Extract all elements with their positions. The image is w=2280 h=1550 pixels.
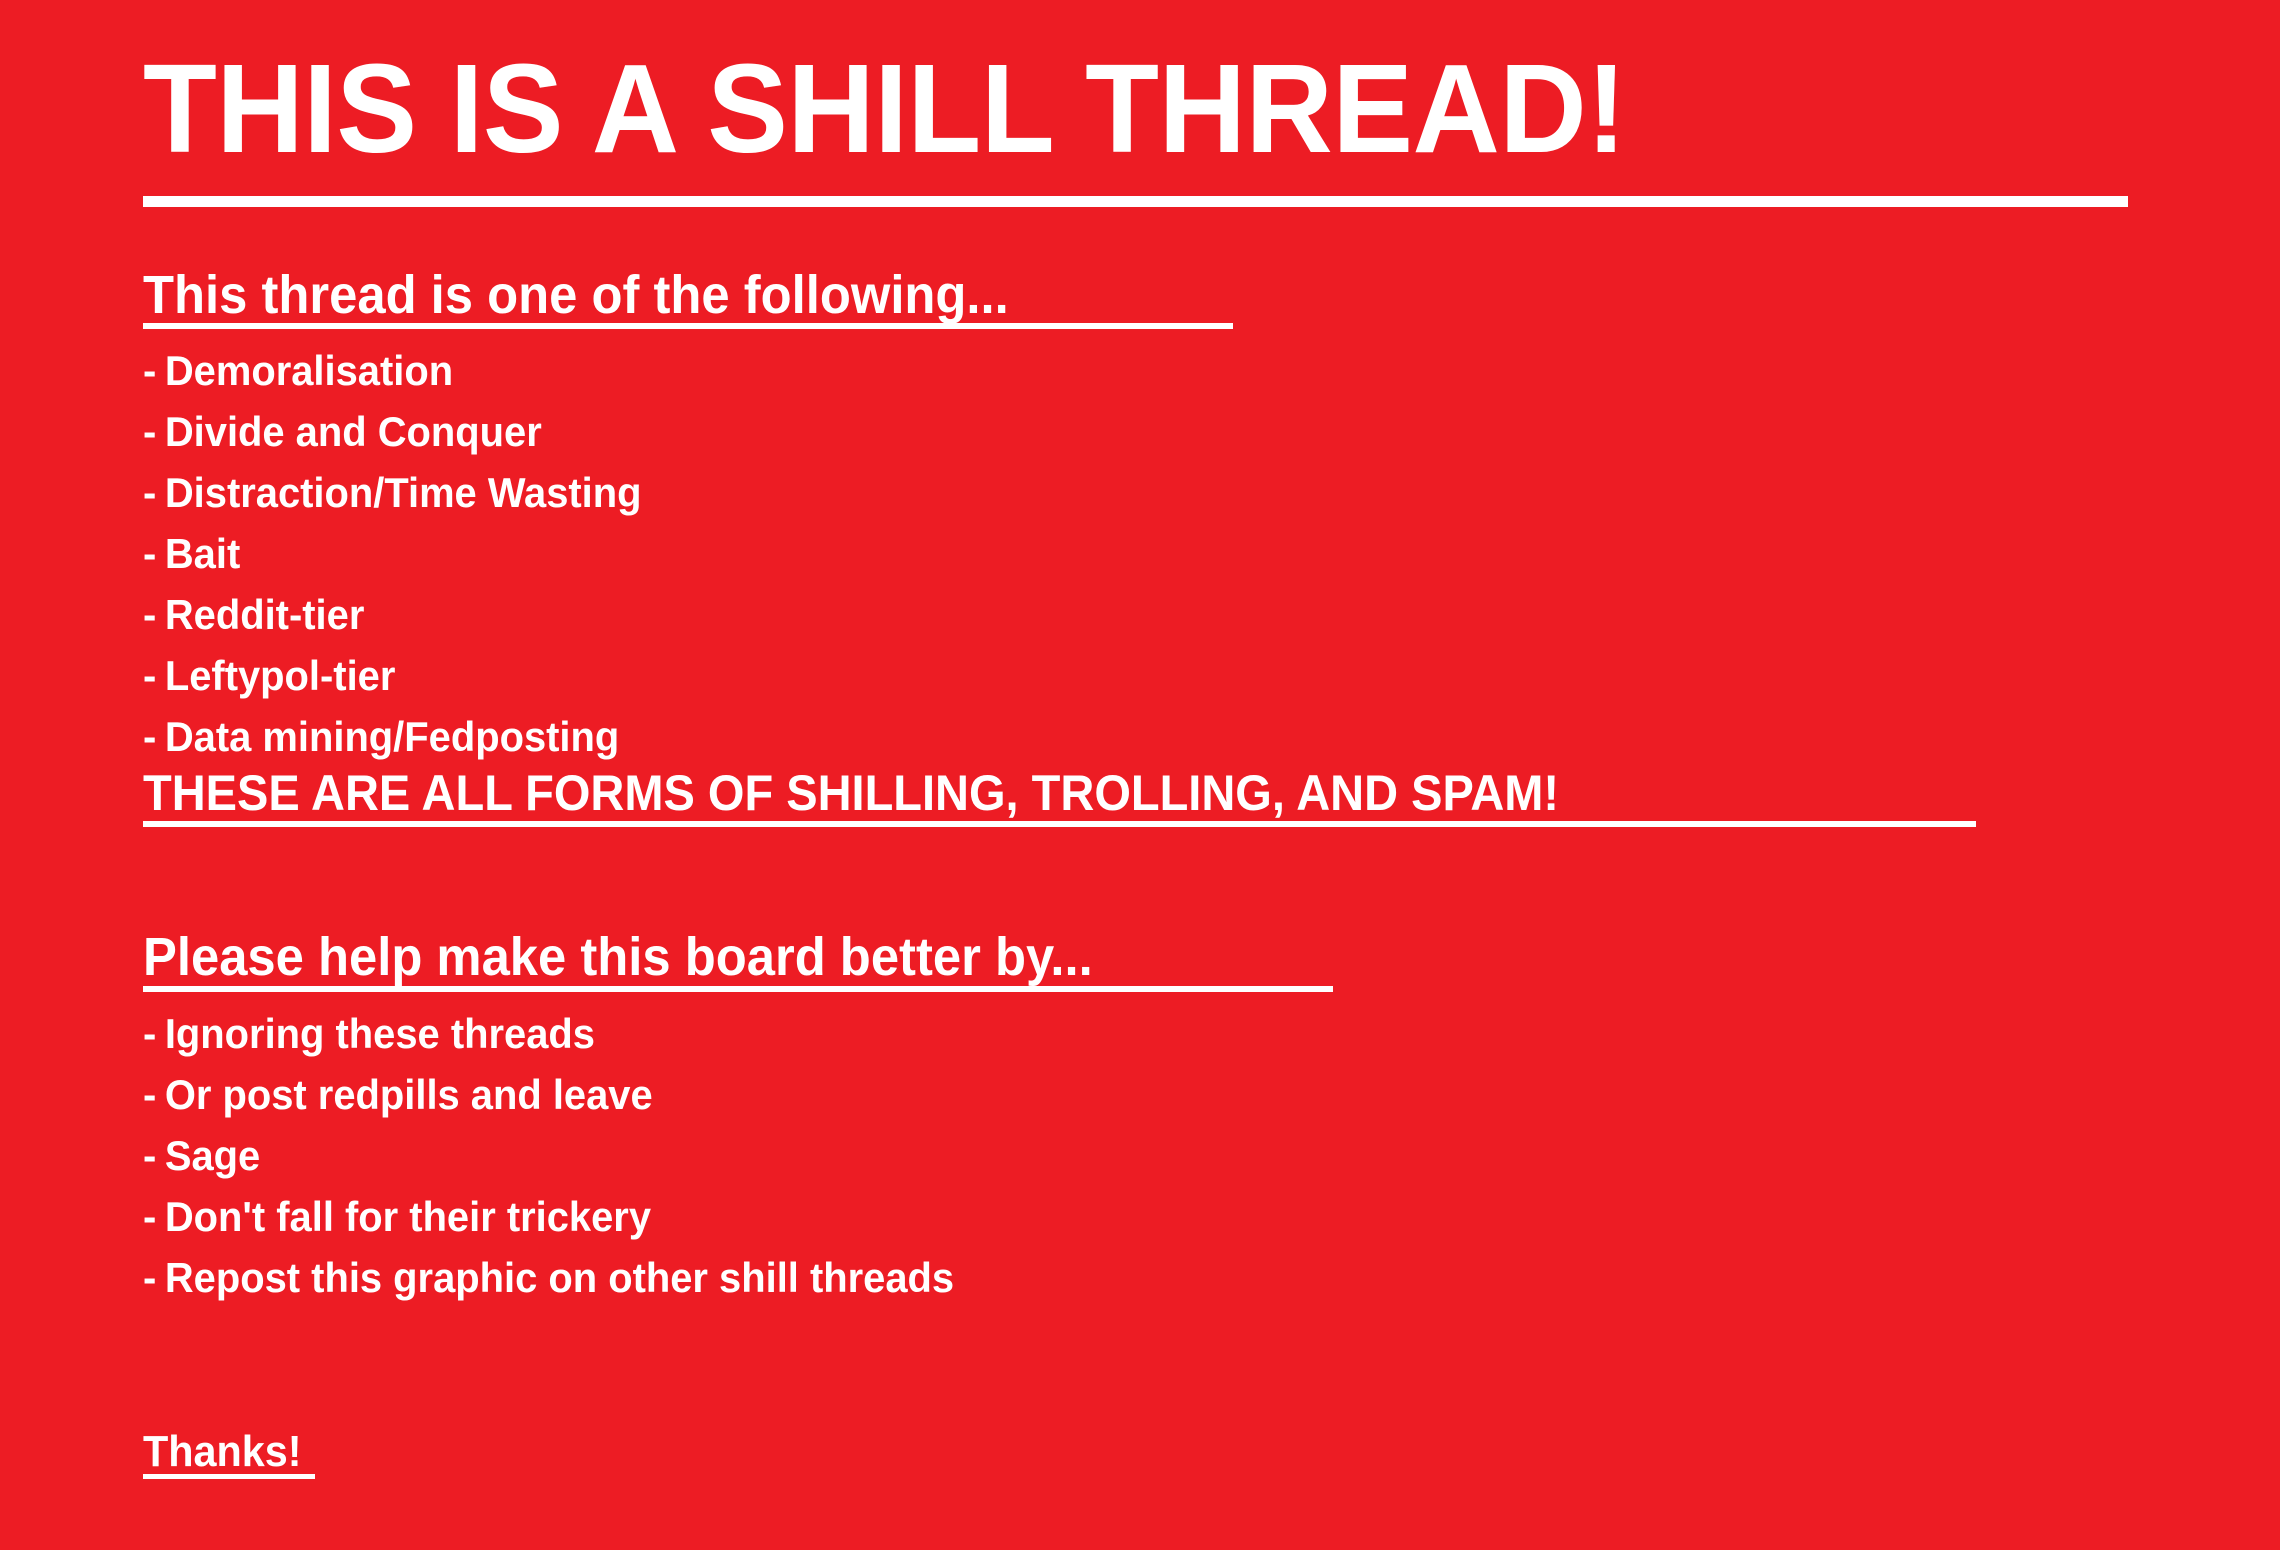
bullet-dash: - [143, 340, 156, 401]
bullet-dash: - [143, 1247, 156, 1308]
list-item-label: Divide and Conquer [165, 408, 542, 455]
list-item: -Don't fall for their trickery [143, 1186, 997, 1247]
title-block: THIS IS A SHILL THREAD! [143, 46, 1688, 172]
bullet-dash: - [143, 1003, 156, 1064]
list-item: -Repost this graphic on other shill thre… [143, 1247, 997, 1308]
list-item-label: Ignoring these threads [165, 1010, 595, 1057]
list-item: -Distraction/Time Wasting [143, 462, 668, 523]
list-item: -Ignoring these threads [143, 1003, 997, 1064]
list-item-label: Sage [165, 1132, 260, 1179]
closing-heading-text: Thanks! [143, 1430, 302, 1474]
title-underline [143, 196, 2128, 207]
bullet-dash: - [143, 462, 156, 523]
list-item-label: Data mining/Fedposting [165, 713, 619, 760]
bullet-dash: - [143, 401, 156, 462]
bullet-dash: - [143, 1064, 156, 1125]
section-heading-help-underline [143, 986, 1333, 992]
section-heading-following-underline [143, 323, 1233, 329]
help-action-list: -Ignoring these threads -Or post redpill… [143, 1003, 997, 1308]
closing-heading: Thanks! [143, 1430, 312, 1474]
list-item-label: Reddit-tier [165, 591, 364, 638]
list-item: -Reddit-tier [143, 584, 668, 645]
list-item-label: Distraction/Time Wasting [165, 469, 642, 516]
poster-content: THIS IS A SHILL THREAD! This thread is o… [143, 0, 2280, 1550]
page-title: THIS IS A SHILL THREAD! [143, 46, 1626, 172]
list-item: -Demoralisation [143, 340, 668, 401]
section-heading-conclusion-underline [143, 821, 1976, 827]
shill-thread-type-list: -Demoralisation -Divide and Conquer -Dis… [143, 340, 668, 767]
shill-thread-poster: THIS IS A SHILL THREAD! This thread is o… [0, 0, 2280, 1550]
list-item: -Divide and Conquer [143, 401, 668, 462]
list-item-label: Or post redpills and leave [165, 1071, 653, 1118]
bullet-dash: - [143, 584, 156, 645]
list-item: -Or post redpills and leave [143, 1064, 997, 1125]
section-heading-following: This thread is one of the following... [143, 268, 1064, 322]
bullet-dash: - [143, 645, 156, 706]
bullet-dash: - [143, 523, 156, 584]
list-item-label: Bait [165, 530, 240, 577]
list-item: -Leftypol-tier [143, 645, 668, 706]
list-item: -Bait [143, 523, 668, 584]
bullet-dash: - [143, 1186, 156, 1247]
section-heading-help-text: Please help make this board better by... [143, 930, 1093, 984]
section-heading-conclusion: THESE ARE ALL FORMS OF SHILLING, TROLLIN… [143, 768, 1649, 818]
section-heading-conclusion-text: THESE ARE ALL FORMS OF SHILLING, TROLLIN… [143, 768, 1559, 818]
list-item-label: Repost this graphic on other shill threa… [165, 1254, 954, 1301]
list-item-label: Leftypol-tier [165, 652, 396, 699]
bullet-dash: - [143, 1125, 156, 1186]
list-item: -Sage [143, 1125, 997, 1186]
list-item-label: Don't fall for their trickery [165, 1193, 651, 1240]
section-heading-help: Please help make this board better by... [143, 930, 1153, 984]
section-heading-following-text: This thread is one of the following... [143, 268, 1009, 322]
list-item-label: Demoralisation [165, 347, 453, 394]
bullet-dash: - [143, 706, 156, 767]
list-item: -Data mining/Fedposting [143, 706, 668, 767]
closing-heading-underline [143, 1474, 315, 1479]
